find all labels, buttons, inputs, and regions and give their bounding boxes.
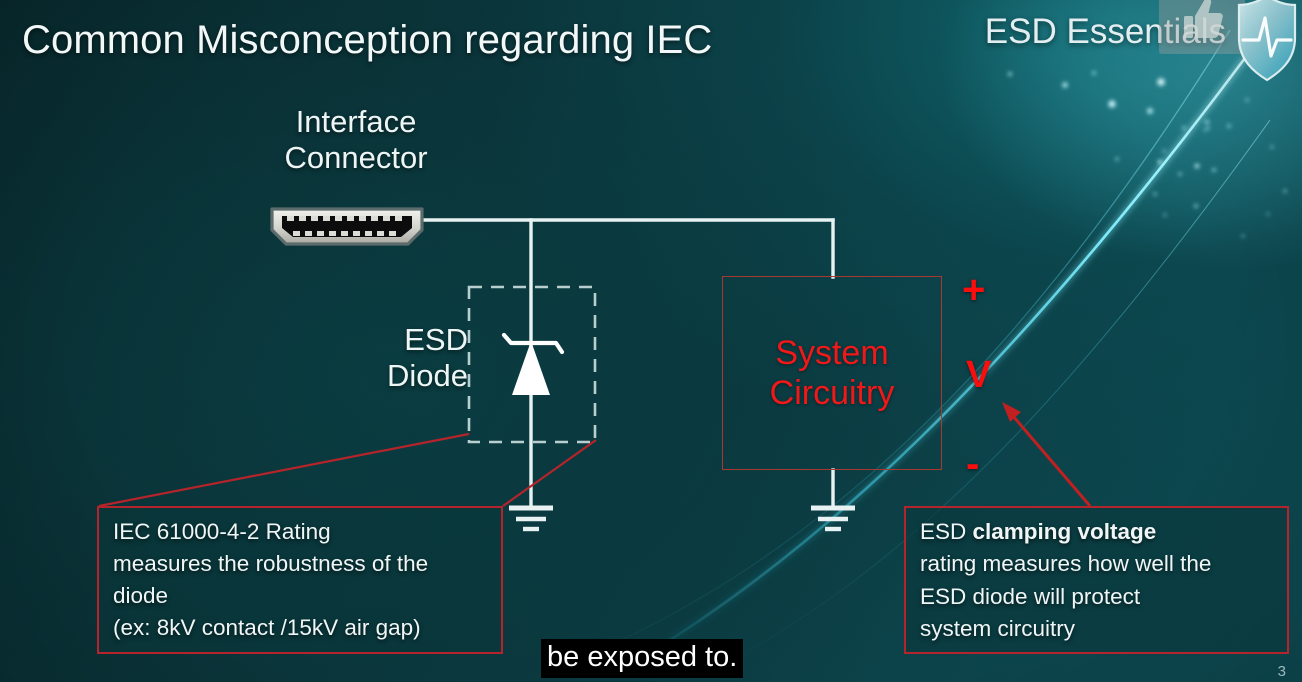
system-box-line2: Circuitry <box>770 373 895 413</box>
ground-symbol-diode <box>509 508 553 529</box>
callout-left-line2: measures the robustness of the <box>113 548 501 580</box>
zener-diode-symbol <box>504 335 562 395</box>
callout-right-line3: ESD diode will protect <box>920 581 1287 613</box>
callout-right-line1-plain: ESD <box>920 519 973 544</box>
callout-left-line4: (ex: 8kV contact /15kV air gap) <box>113 612 501 644</box>
page-number: 3 <box>1278 663 1286 680</box>
callout-right-line4: system circuitry <box>920 613 1287 645</box>
callout-clamping-voltage: ESD clamping voltage rating measures how… <box>904 506 1289 654</box>
voltage-plus-marker: + <box>962 268 985 313</box>
callout-iec-rating: IEC 61000-4-2 Rating measures the robust… <box>97 506 503 654</box>
callout-right-line2: rating measures how well the <box>920 548 1287 580</box>
callout-left-line3: diode <box>113 580 501 612</box>
callout-left-line1: IEC 61000-4-2 Rating <box>113 516 501 548</box>
system-circuitry-box: System Circuitry <box>722 276 942 470</box>
system-box-line1: System <box>770 333 895 373</box>
voltage-v-marker: V <box>966 354 991 397</box>
ground-symbol-system <box>811 508 855 529</box>
slide-canvas: Common Misconception regarding IEC ESD E… <box>0 0 1302 682</box>
voltage-minus-marker: - <box>966 442 979 487</box>
callout-right-line1-bold: clamping voltage <box>973 519 1157 544</box>
callout-right-arrow <box>1002 402 1090 506</box>
interface-connector-graphic <box>268 204 426 248</box>
callout-left-leader <box>99 434 596 506</box>
subtitle-caption: be exposed to. <box>541 639 743 678</box>
callout-right-line1: ESD clamping voltage <box>920 516 1287 548</box>
